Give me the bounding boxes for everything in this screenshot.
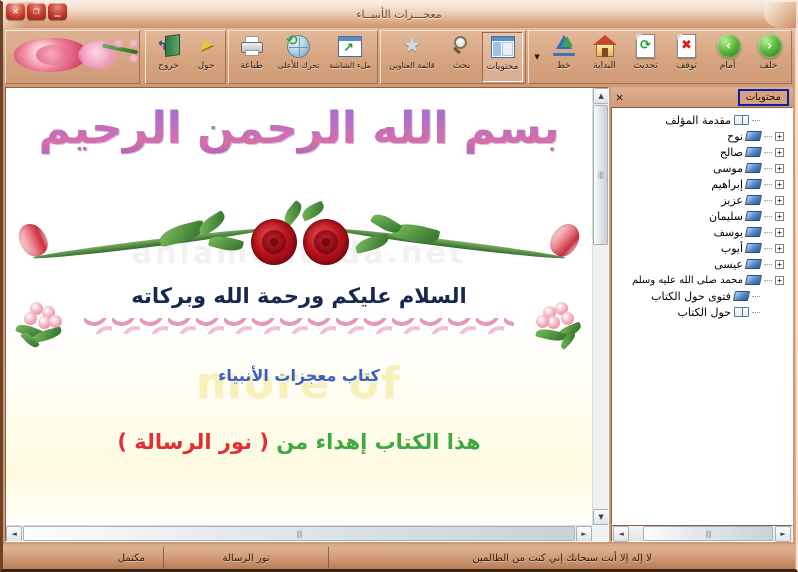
home-icon bbox=[592, 34, 618, 60]
scroll-down-button[interactable]: ▼ bbox=[593, 509, 609, 525]
tree-item-aziz[interactable]: + عزيز bbox=[612, 192, 790, 208]
tree-item-salih[interactable]: + صالح bbox=[612, 144, 790, 160]
closed-book-icon bbox=[746, 178, 761, 190]
basmala-heading: بسم الله الرحمن الرحيم bbox=[6, 96, 592, 162]
status-zone: نور الرسالة bbox=[163, 547, 328, 569]
expand-icon[interactable]: + bbox=[775, 180, 784, 189]
content-pane: ahlamontada.net more of بسم الله الرحمن … bbox=[5, 87, 609, 542]
refresh-page-icon: ⟳ bbox=[633, 34, 659, 60]
expand-icon[interactable]: + bbox=[775, 164, 784, 173]
closed-book-icon bbox=[746, 226, 761, 238]
expand-icon[interactable]: + bbox=[775, 148, 784, 157]
expand-icon[interactable]: + bbox=[775, 260, 784, 269]
toolbar-label-home: البداية bbox=[593, 62, 616, 71]
client-area: محتويات ✕ مقدمة المؤلف + نوح + bbox=[3, 86, 795, 544]
hscroll-thumb[interactable]: |||| bbox=[23, 526, 575, 541]
scroll-up-button[interactable]: ▲ bbox=[593, 88, 609, 104]
toolbar-group-view: ↗ ملء الشاشة ⟲ تحرك للأعلى طباعة bbox=[228, 30, 378, 84]
rose-icon-right bbox=[303, 219, 349, 265]
toolbar-label-forward: أمام bbox=[720, 62, 736, 71]
toolbar-button-stop[interactable]: ✖ توقف bbox=[666, 32, 707, 82]
tree-connector bbox=[764, 216, 772, 217]
expand-icon[interactable]: + bbox=[775, 196, 784, 205]
toolbar-button-scroll-up[interactable]: ⟲ تحرك للأعلى bbox=[272, 32, 325, 82]
tree-item-about-book[interactable]: حول الكتاب bbox=[612, 304, 790, 320]
toolbar-group-navigation: ‹ خلف › أمام ✖ توقف ⟳ تحديث bbox=[528, 30, 792, 84]
tree-item-musa[interactable]: + موسى bbox=[612, 160, 790, 176]
dedication-highlight: ( نور الرسالة ) bbox=[117, 430, 269, 454]
pink-rose-banner: ✸ ✺ ✹ bbox=[5, 30, 140, 84]
toolbar-button-about[interactable]: ➤ حول bbox=[189, 32, 223, 82]
toolbar-button-favorites[interactable]: ★ قائمة العناوين bbox=[383, 32, 441, 82]
scroll-right-button[interactable]: ► bbox=[576, 526, 592, 542]
tree-item-label: عزيز bbox=[721, 194, 743, 207]
titlebar-curl-right bbox=[764, 0, 798, 28]
tree-connector bbox=[764, 264, 772, 265]
expand-icon[interactable]: + bbox=[775, 132, 784, 141]
flower-posy-right bbox=[528, 300, 582, 354]
toolbar-button-refresh[interactable]: ⟳ تحديث bbox=[625, 32, 666, 82]
tree-item-label: أيوب bbox=[721, 242, 743, 255]
tree-connector bbox=[764, 280, 772, 281]
hscroll-thumb[interactable]: |||| bbox=[643, 526, 773, 541]
cursor-about-icon: ➤ bbox=[193, 34, 219, 60]
chevron-down-icon[interactable]: ▼ bbox=[532, 47, 542, 67]
tree-item-label: فتوى حول الكتاب bbox=[651, 290, 731, 303]
flower-posy-left bbox=[16, 300, 70, 354]
back-arrow-icon: ‹ bbox=[756, 34, 782, 60]
application-window: معجـــزات الأنبيــاء _ ❐ ✕ ‹ خلف › أمام bbox=[0, 0, 798, 572]
contents-panes-icon bbox=[490, 35, 516, 61]
closed-book-icon bbox=[746, 242, 761, 254]
toolbar-button-print[interactable]: طباعة bbox=[231, 32, 272, 82]
tree-item-sulayman[interactable]: + سليمان bbox=[612, 208, 790, 224]
expand-icon[interactable]: + bbox=[775, 276, 784, 285]
scroll-left-button[interactable]: ◄ bbox=[6, 526, 22, 542]
toolbar-label-search: بحث bbox=[453, 62, 470, 71]
navigation-pane: محتويات ✕ مقدمة المؤلف + نوح + bbox=[611, 87, 793, 542]
close-pane-icon[interactable]: ✕ bbox=[613, 90, 626, 104]
tree-item-yusuf[interactable]: + يوسف bbox=[612, 224, 790, 240]
toolbar-button-fullscreen[interactable]: ↗ ملء الشاشة bbox=[325, 32, 375, 82]
closed-book-icon bbox=[746, 146, 761, 158]
content-hscrollbar[interactable]: ► ◄ |||| bbox=[6, 525, 592, 541]
tab-contents[interactable]: محتويات bbox=[738, 89, 789, 106]
tree-item-ibrahim[interactable]: + إبراهيم bbox=[612, 176, 790, 192]
tree-item-author-intro[interactable]: مقدمة المؤلف bbox=[612, 112, 790, 128]
closed-book-icon bbox=[746, 258, 761, 270]
tree-connector bbox=[764, 232, 772, 233]
expand-icon[interactable]: + bbox=[775, 244, 784, 253]
scrollbar-corner bbox=[592, 525, 608, 541]
closed-book-icon bbox=[746, 162, 761, 174]
tree-item-label: موسى bbox=[713, 162, 743, 175]
tree-item-label: حول الكتاب bbox=[678, 306, 731, 319]
tree-item-label: إبراهيم bbox=[711, 178, 743, 191]
tree-item-nuh[interactable]: + نوح bbox=[612, 128, 790, 144]
tree-connector bbox=[752, 312, 760, 313]
tree-item-isa[interactable]: + عيسى bbox=[612, 256, 790, 272]
toolbar-group-browse: محتويات بحث ★ قائمة العناوين bbox=[380, 30, 526, 84]
toolbar-label-font: خط bbox=[556, 62, 570, 71]
open-book-icon bbox=[734, 306, 749, 318]
globe-refresh-icon: ⟲ bbox=[286, 34, 312, 60]
tree-connector bbox=[764, 152, 772, 153]
tree-item-label: سليمان bbox=[709, 210, 743, 223]
document-page: ahlamontada.net more of بسم الله الرحمن … bbox=[6, 88, 592, 525]
status-done: مكتمل bbox=[3, 547, 163, 569]
toolbar-label-fullscreen: ملء الشاشة bbox=[329, 62, 371, 70]
vscroll-thumb[interactable]: |||| bbox=[593, 105, 608, 245]
contents-tree[interactable]: مقدمة المؤلف + نوح + صالح + bbox=[611, 107, 793, 525]
expand-icon[interactable]: + bbox=[775, 212, 784, 221]
toolbar-button-home[interactable]: البداية bbox=[584, 32, 625, 82]
content-vscrollbar[interactable]: ▲ |||| ▼ bbox=[592, 88, 608, 525]
tree-connector bbox=[752, 120, 760, 121]
toolbar-button-back[interactable]: ‹ خلف bbox=[748, 32, 789, 82]
pink-ribbon-divider bbox=[84, 318, 514, 334]
tree-item-label: يوسف bbox=[714, 226, 743, 239]
favorites-star-icon: ★ bbox=[399, 34, 425, 60]
scroll-left-button[interactable]: ◄ bbox=[613, 526, 629, 542]
toolbar-button-search[interactable]: بحث bbox=[441, 32, 482, 82]
book-title-text: كتاب معجزات الأنبياء bbox=[6, 366, 592, 385]
toolbar: ‹ خلف › أمام ✖ توقف ⟳ تحديث bbox=[3, 28, 795, 86]
toolbar-label-stop: توقف bbox=[676, 62, 697, 71]
toolbar-label-scroll-up: تحرك للأعلى bbox=[277, 62, 319, 70]
rose-icon-left bbox=[251, 219, 297, 265]
toolbar-button-contents[interactable]: محتويات bbox=[482, 32, 523, 82]
tree-item-fatwa[interactable]: فتوى حول الكتاب bbox=[612, 288, 790, 304]
leaf-cluster-right bbox=[339, 211, 449, 255]
tree-connector bbox=[764, 168, 772, 169]
closed-book-icon bbox=[734, 290, 749, 302]
tree-item-label: عيسى bbox=[714, 258, 743, 271]
closed-book-icon bbox=[746, 274, 761, 286]
navigation-pane-header: محتويات ✕ bbox=[611, 87, 793, 107]
toolbar-label-back: خلف bbox=[760, 62, 778, 71]
fullscreen-icon: ↗ bbox=[337, 34, 363, 60]
toolbar-label-favorites: قائمة العناوين bbox=[389, 62, 435, 70]
title-bar[interactable]: معجـــزات الأنبيــاء _ ❐ ✕ bbox=[0, 0, 798, 28]
status-message: لا إله إلا أنت سبحانك إني كنت من الظالمي… bbox=[328, 547, 795, 569]
toolbar-label-refresh: تحديث bbox=[633, 62, 657, 71]
exit-door-icon: ↰ bbox=[156, 34, 182, 60]
toolbar-label-exit: خروج bbox=[158, 62, 179, 71]
toolbar-button-exit[interactable]: ↰ خروج bbox=[148, 32, 189, 82]
tree-item-label: محمد صلى الله عليه وسلم bbox=[632, 274, 743, 287]
status-bar: لا إله إلا أنت سبحانك إني كنت من الظالمي… bbox=[3, 547, 795, 569]
tree-connector bbox=[764, 248, 772, 249]
toolbar-button-forward[interactable]: › أمام bbox=[707, 32, 748, 82]
scroll-right-button[interactable]: ► bbox=[775, 526, 791, 542]
closed-book-icon bbox=[746, 210, 761, 222]
leaf-cluster-left bbox=[149, 211, 259, 255]
minimize-button[interactable]: _ bbox=[48, 3, 67, 20]
toolbar-label-about: حول bbox=[198, 62, 215, 71]
open-book-icon bbox=[734, 114, 749, 126]
tree-item-ayyub[interactable]: + أيوب bbox=[612, 240, 790, 256]
expand-icon[interactable]: + bbox=[775, 228, 784, 237]
window-title: معجـــزات الأنبيــاء bbox=[356, 8, 441, 21]
navigation-pane-hscrollbar[interactable]: ► ◄ |||| bbox=[611, 525, 793, 542]
tree-item-label: نوح bbox=[727, 130, 743, 143]
stop-page-icon: ✖ bbox=[674, 34, 700, 60]
close-button[interactable]: ✕ bbox=[6, 3, 25, 20]
greeting-band: السلام عليكم ورحمة الله وبركاته bbox=[6, 284, 592, 356]
toolbar-label-contents: محتويات bbox=[487, 63, 519, 72]
dedication-text: هذا الكتاب إهداء من ( نور الرسالة ) bbox=[6, 430, 592, 454]
closed-book-icon bbox=[746, 130, 761, 142]
tree-item-label: مقدمة المؤلف bbox=[665, 114, 731, 127]
tree-connector bbox=[764, 136, 772, 137]
tree-connector bbox=[752, 296, 760, 297]
closed-book-icon bbox=[746, 194, 761, 206]
toolbar-label-print: طباعة bbox=[240, 62, 263, 71]
search-magnifier-icon bbox=[449, 34, 475, 60]
toolbar-group-app: ➤ حول ↰ خروج bbox=[145, 30, 226, 84]
toolbar-button-font[interactable]: خط bbox=[543, 32, 584, 82]
font-icon bbox=[551, 34, 577, 60]
window-controls: _ ❐ ✕ bbox=[6, 3, 67, 20]
printer-icon bbox=[239, 34, 265, 60]
restore-button[interactable]: ❐ bbox=[27, 3, 46, 20]
greeting-text: السلام عليكم ورحمة الله وبركاته bbox=[6, 284, 592, 308]
tree-item-muhammad[interactable]: + محمد صلى الله عليه وسلم bbox=[612, 272, 790, 288]
rose-divider-graphic bbox=[14, 193, 584, 273]
tree-item-label: صالح bbox=[720, 146, 743, 159]
tree-connector bbox=[764, 184, 772, 185]
dedication-prefix: هذا الكتاب إهداء من bbox=[276, 430, 480, 454]
tree-connector bbox=[764, 200, 772, 201]
forward-arrow-icon: › bbox=[715, 34, 741, 60]
